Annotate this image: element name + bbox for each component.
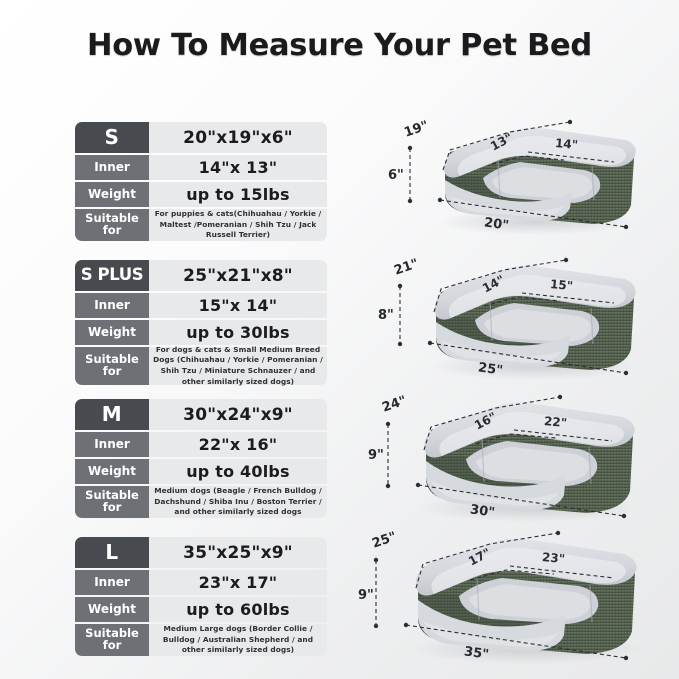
spec-table-s-plus: S PLUS 25"x21"x8" Inner 15"x 14" Weight … xyxy=(75,260,327,387)
dim-inner-length-label: 14" xyxy=(554,136,578,152)
dim-height-label: 9" xyxy=(368,448,384,463)
inner-label: Inner xyxy=(75,155,149,180)
table-row-inner: Inner 14"x 13" xyxy=(75,155,327,180)
dim-height-label: 6" xyxy=(388,168,404,183)
table-row-weight: Weight up to 15lbs xyxy=(75,182,327,207)
bed-illustration-l: 25" 9" 35" 17" 23" xyxy=(358,518,670,670)
bed-svg-m xyxy=(368,380,668,528)
spec-table-l: L 35"x25"x9" Inner 23"x 17" Weight up to… xyxy=(75,537,327,658)
table-row-size: M 30"x24"x9" xyxy=(75,399,327,430)
inner-value: 15"x 14" xyxy=(149,293,327,318)
size-label: L xyxy=(75,537,149,568)
spec-table-s: S 20"x19"x6" Inner 14"x 13" Weight up to… xyxy=(75,122,327,243)
table-row-suitable: Suitable for For dogs & cats & Small Med… xyxy=(75,347,327,385)
table-row-size: L 35"x25"x9" xyxy=(75,537,327,568)
suitable-value: For puppies & cats(Chihuahau / Yorkie / … xyxy=(149,209,327,241)
bed-illustration-m: 24" 9" 30" 16" 22" xyxy=(368,380,668,528)
size-dimensions: 20"x19"x6" xyxy=(149,122,327,153)
pet-bed-size-guide: How To Measure Your Pet Bed S 20"x19"x6"… xyxy=(0,0,679,679)
bed-illustration-s-plus: 21" 8" 25" 14" 15" xyxy=(378,240,668,385)
suitable-value: Medium dogs (Beagle / French Bulldog / D… xyxy=(149,486,327,518)
suitable-value: Medium Large dogs (Border Collie / Bulld… xyxy=(149,624,327,656)
size-label: S PLUS xyxy=(75,260,149,291)
page-title: How To Measure Your Pet Bed xyxy=(0,28,679,63)
table-row-size: S 20"x19"x6" xyxy=(75,122,327,153)
table-row-suitable: Suitable for For puppies & cats(Chihuaha… xyxy=(75,209,327,241)
table-row-inner: Inner 22"x 16" xyxy=(75,432,327,457)
inner-label: Inner xyxy=(75,570,149,595)
inner-value: 14"x 13" xyxy=(149,155,327,180)
spec-table-m: M 30"x24"x9" Inner 22"x 16" Weight up to… xyxy=(75,399,327,520)
size-dimensions: 35"x25"x9" xyxy=(149,537,327,568)
table-row-weight: Weight up to 40lbs xyxy=(75,459,327,484)
suitable-label: Suitable for xyxy=(75,624,149,656)
weight-value: up to 15lbs xyxy=(149,182,327,207)
weight-label: Weight xyxy=(75,182,149,207)
table-row-inner: Inner 23"x 17" xyxy=(75,570,327,595)
dim-inner-length-label: 15" xyxy=(549,277,573,293)
weight-value: up to 40lbs xyxy=(149,459,327,484)
table-row-size: S PLUS 25"x21"x8" xyxy=(75,260,327,291)
suitable-label: Suitable for xyxy=(75,209,149,241)
inner-value: 23"x 17" xyxy=(149,570,327,595)
dim-inner-length-label: 22" xyxy=(543,414,567,430)
suitable-value: For dogs & cats & Small Medium Breed Dog… xyxy=(149,347,327,385)
weight-label: Weight xyxy=(75,459,149,484)
size-label: S xyxy=(75,122,149,153)
suitable-label: Suitable for xyxy=(75,347,149,385)
table-row-inner: Inner 15"x 14" xyxy=(75,293,327,318)
table-row-suitable: Suitable for Medium Large dogs (Border C… xyxy=(75,624,327,656)
weight-label: Weight xyxy=(75,597,149,622)
table-row-weight: Weight up to 30lbs xyxy=(75,320,327,345)
size-dimensions: 30"x24"x9" xyxy=(149,399,327,430)
table-row-weight: Weight up to 60lbs xyxy=(75,597,327,622)
dim-height-label: 9" xyxy=(358,588,374,603)
weight-value: up to 60lbs xyxy=(149,597,327,622)
bed-svg-s xyxy=(388,100,668,240)
size-label: M xyxy=(75,399,149,430)
bed-svg-s-plus xyxy=(378,240,668,385)
table-row-suitable: Suitable for Medium dogs (Beagle / Frenc… xyxy=(75,486,327,518)
suitable-label: Suitable for xyxy=(75,486,149,518)
weight-label: Weight xyxy=(75,320,149,345)
bed-illustration-s: 19" 6" 20" 13" 14" xyxy=(388,100,668,240)
size-dimensions: 25"x21"x8" xyxy=(149,260,327,291)
dim-height-label: 8" xyxy=(378,308,394,323)
inner-label: Inner xyxy=(75,432,149,457)
dim-inner-length-label: 23" xyxy=(541,550,565,566)
inner-value: 22"x 16" xyxy=(149,432,327,457)
weight-value: up to 30lbs xyxy=(149,320,327,345)
bed-svg-l xyxy=(358,518,670,670)
inner-label: Inner xyxy=(75,293,149,318)
